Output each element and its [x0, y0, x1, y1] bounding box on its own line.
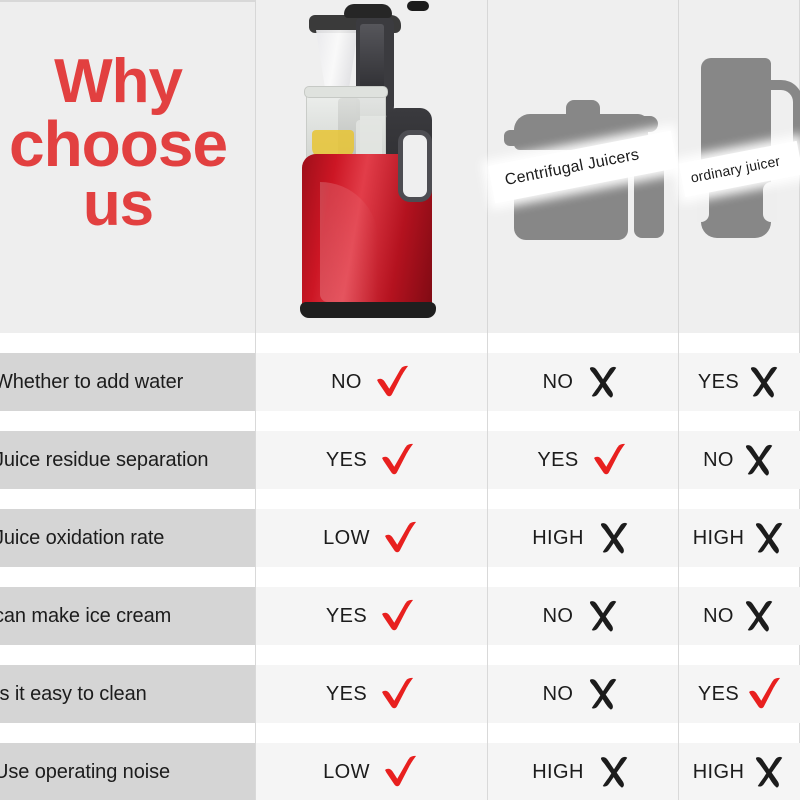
cell-value: NO	[543, 371, 574, 394]
red-check-icon	[377, 599, 417, 633]
cell-centrifugal: NO	[488, 587, 678, 645]
silhouette-ear	[504, 130, 522, 146]
cell-product: NO	[256, 353, 487, 411]
red-check-icon	[380, 521, 420, 555]
row-label: Juice oxidation rate	[0, 527, 164, 550]
cell-value: YES	[537, 449, 578, 472]
table-row: Use operating noise LOW HIGH HIGH	[0, 743, 800, 800]
row-label-cell: can make ice cream	[0, 587, 255, 645]
cell-value: HIGH	[693, 527, 745, 550]
red-slow-juicer-image	[294, 2, 454, 327]
cell-value: HIGH	[532, 761, 584, 784]
cell-value: LOW	[323, 527, 370, 550]
black-cross-icon	[752, 521, 786, 555]
table-row: Is it easy to clean YES NO YES	[0, 665, 800, 723]
row-label: Whether to add water	[0, 371, 183, 394]
red-check-icon	[380, 755, 420, 789]
cell-centrifugal: NO	[488, 353, 678, 411]
row-label: can make ice cream	[0, 605, 171, 628]
cell-product: LOW	[256, 743, 487, 800]
black-cross-icon	[747, 365, 781, 399]
cell-value: YES	[326, 683, 367, 706]
black-cross-icon	[583, 677, 623, 711]
title-line-3: us	[0, 175, 252, 236]
cell-value: LOW	[323, 761, 370, 784]
black-cross-icon	[752, 755, 786, 789]
cell-centrifugal: HIGH	[488, 743, 678, 800]
red-check-icon	[377, 443, 417, 477]
cell-ordinary: HIGH	[679, 509, 800, 567]
cell-value: HIGH	[693, 761, 745, 784]
title-line-1: Why	[0, 52, 252, 113]
cell-product: LOW	[256, 509, 487, 567]
cell-value: YES	[326, 605, 367, 628]
cell-centrifugal: NO	[488, 665, 678, 723]
column-header-centrifugal: Centrifugal Juicers	[487, 0, 678, 333]
row-label: Use operating noise	[0, 761, 170, 784]
column-header-product	[255, 0, 487, 333]
comparison-infographic: Why choose us	[0, 0, 800, 800]
cell-centrifugal: YES	[488, 431, 678, 489]
row-label-cell: Juice oxidation rate	[0, 509, 255, 567]
cell-product: YES	[256, 665, 487, 723]
black-cross-icon	[742, 443, 776, 477]
row-label-cell: Use operating noise	[0, 743, 255, 800]
page-title: Why choose us	[0, 52, 252, 236]
juicer-lid	[344, 4, 392, 18]
cell-value: HIGH	[532, 527, 584, 550]
comparison-table: Whether to add water NO NO YES Juice res…	[0, 333, 800, 800]
cell-value: YES	[698, 683, 739, 706]
cell-value: NO	[703, 605, 734, 628]
juicer-arm-inner	[360, 24, 384, 94]
table-row: can make ice cream YES NO NO	[0, 587, 800, 645]
row-label-cell: Juice residue separation	[0, 431, 255, 489]
silhouette-nose	[624, 116, 658, 132]
black-cross-icon	[742, 599, 776, 633]
cell-ordinary: HIGH	[679, 743, 800, 800]
header-band: Why choose us	[0, 0, 800, 333]
cell-ordinary: YES	[679, 665, 800, 723]
cell-value: YES	[698, 371, 739, 394]
juicer-base	[300, 302, 436, 318]
table-row: Juice residue separation YES YES NO	[0, 431, 800, 489]
cell-product: YES	[256, 587, 487, 645]
black-cross-icon	[583, 599, 623, 633]
table-row: Juice oxidation rate LOW HIGH HIGH	[0, 509, 800, 567]
juicer-feed-chute	[316, 30, 358, 90]
title-line-2: choose	[0, 113, 252, 176]
cell-ordinary: NO	[679, 587, 800, 645]
juicer-bowl-rim	[304, 86, 388, 98]
cell-value: NO	[543, 605, 574, 628]
red-check-icon	[372, 365, 412, 399]
cell-value: NO	[331, 371, 362, 394]
juicer-handle	[398, 130, 432, 202]
cell-ordinary: NO	[679, 431, 800, 489]
cell-product: YES	[256, 431, 487, 489]
red-check-icon	[377, 677, 417, 711]
red-check-icon	[747, 677, 781, 711]
row-label-cell: Is it easy to clean	[0, 665, 255, 723]
row-label: Juice residue separation	[0, 449, 208, 472]
row-label: Is it easy to clean	[0, 683, 147, 706]
black-cross-icon	[594, 755, 634, 789]
row-label-cell: Whether to add water	[0, 353, 255, 411]
black-cross-icon	[594, 521, 634, 555]
cell-ordinary: YES	[679, 353, 800, 411]
silhouette-waist-right	[763, 182, 777, 222]
table-row: Whether to add water NO NO YES	[0, 353, 800, 411]
cell-value: YES	[326, 449, 367, 472]
cell-value: NO	[543, 683, 574, 706]
cell-value: NO	[703, 449, 734, 472]
cell-centrifugal: HIGH	[488, 509, 678, 567]
red-check-icon	[589, 443, 629, 477]
column-header-ordinary: ordinary juicer	[678, 0, 800, 333]
juicer-lid-knob	[407, 1, 429, 11]
black-cross-icon	[583, 365, 623, 399]
